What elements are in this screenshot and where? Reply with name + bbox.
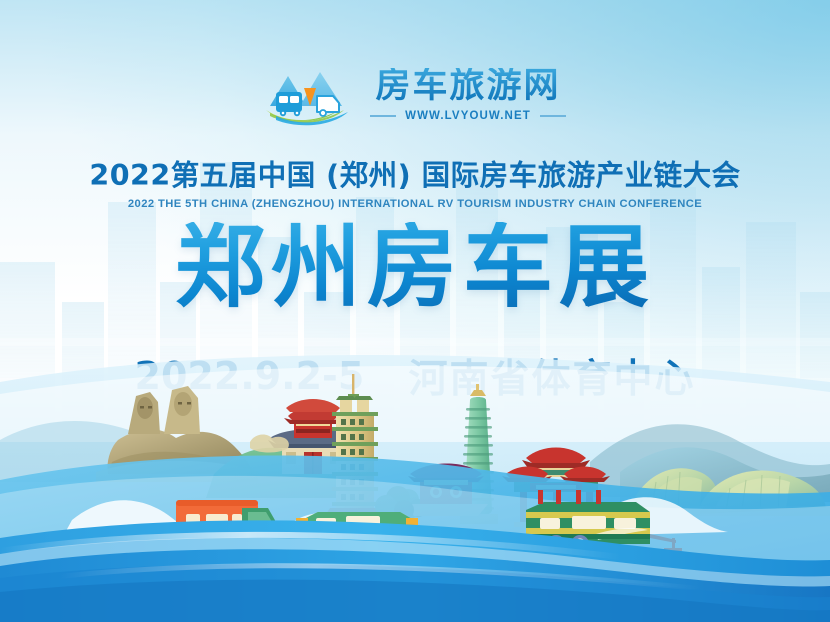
poster-canvas: 房车旅游网 WWW.LVYOUW.NET 2022第五届中国 (郑州) 国际房车… xyxy=(0,0,830,622)
site-logo[interactable]: 房车旅游网 WWW.LVYOUW.NET xyxy=(0,66,830,128)
landmark-illustration-scene xyxy=(0,322,830,622)
conference-title-en: 2022 THE 5TH CHINA (ZHENGZHOU) INTERNATI… xyxy=(0,198,830,210)
logo-text-block: 房车旅游网 WWW.LVYOUW.NET xyxy=(370,66,566,122)
dash-right-decoration xyxy=(540,115,566,117)
page-title: 郑州房车展 xyxy=(0,222,830,314)
brand-website-url: WWW.LVYOUW.NET xyxy=(405,110,531,122)
conference-title-cn: 2022第五届中国 (郑州) 国际房车旅游产业链大会 xyxy=(0,160,830,193)
dash-left-decoration xyxy=(370,115,396,117)
rv-mountain-logo-icon xyxy=(264,66,356,128)
logo-url-row: WWW.LVYOUW.NET xyxy=(370,110,566,122)
brand-name-cn: 房车旅游网 xyxy=(375,68,560,105)
